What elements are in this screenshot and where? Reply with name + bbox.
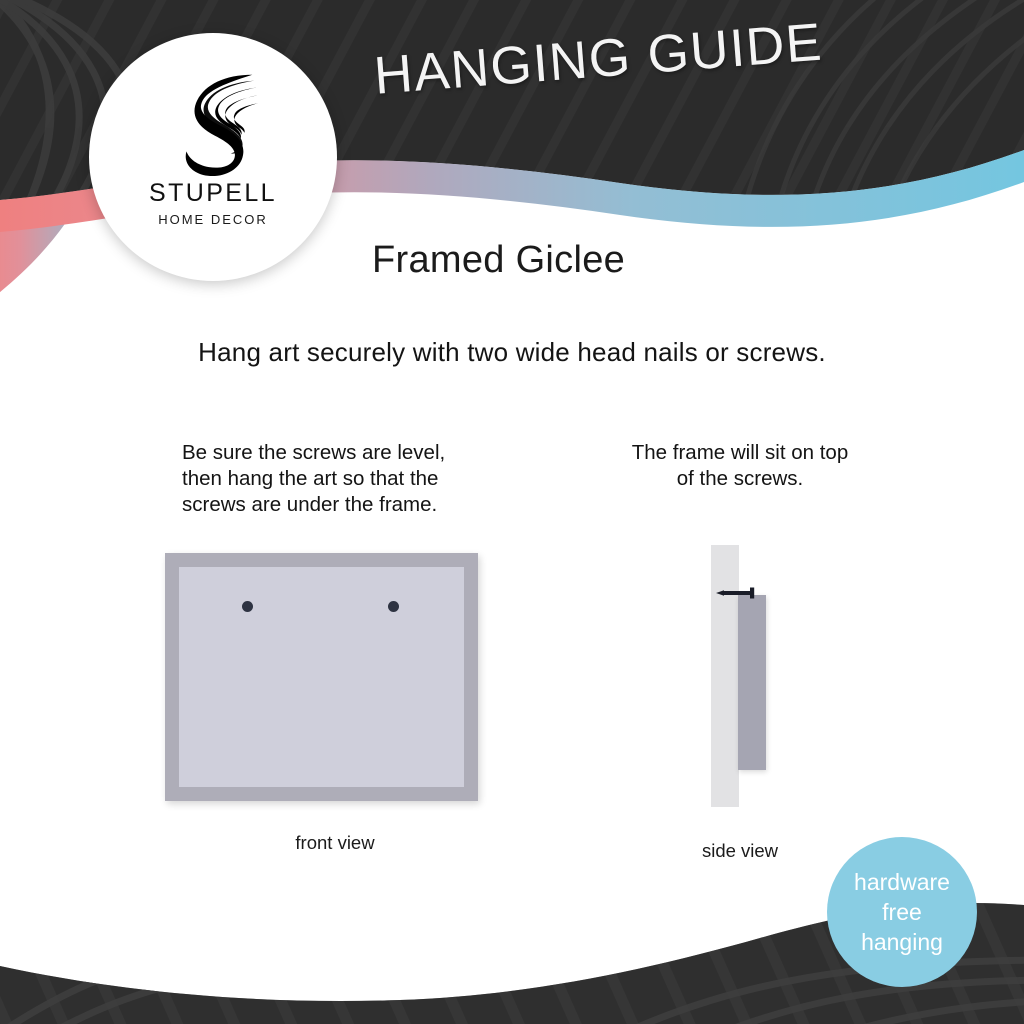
- screw-dot-right-icon: [388, 601, 399, 612]
- front-view-caption-line-3: screws are under the frame.: [182, 492, 530, 518]
- side-view-caption-line-1: The frame will sit on top: [590, 440, 890, 466]
- front-view-label: front view: [140, 832, 530, 854]
- page-title: HANGING GUIDE: [372, 12, 825, 107]
- front-view-caption-line-2: then hang the art so that the: [182, 466, 530, 492]
- framed-art-side-illustration: [711, 545, 771, 807]
- main-instruction-text: Hang art securely with two wide head nai…: [0, 337, 1024, 368]
- logo-subwordmark: HOME DECOR: [158, 213, 268, 226]
- front-view-caption-line-1: Be sure the screws are level,: [182, 440, 530, 466]
- front-view-mat: [179, 567, 464, 787]
- wall-strip: [711, 545, 739, 807]
- front-view-caption-top: Be sure the screws are level, then hang …: [140, 440, 530, 518]
- side-view-diagram: The frame will sit on top of the screws.…: [590, 440, 890, 492]
- stupell-logo-badge: STUPELL HOME DECOR: [89, 33, 337, 281]
- framed-art-front-illustration: [165, 553, 478, 801]
- badge-line-3: hanging: [861, 927, 943, 957]
- diagram-row: Be sure the screws are level, then hang …: [0, 440, 1024, 880]
- nail-side-icon: [716, 587, 760, 599]
- side-view-label: side view: [590, 840, 890, 862]
- front-view-diagram: Be sure the screws are level, then hang …: [140, 440, 530, 518]
- stupell-swoosh-icon: [154, 59, 272, 177]
- frame-strip: [738, 595, 766, 770]
- hanging-guide-page: STUPELL HOME DECOR HANGING GUIDE Framed …: [0, 0, 1024, 1024]
- badge-line-1: hardware: [854, 867, 950, 897]
- hardware-free-hanging-badge: hardware free hanging: [827, 837, 977, 987]
- screw-dot-left-icon: [242, 601, 253, 612]
- product-type-label: Framed Giclee: [372, 239, 625, 282]
- logo-wordmark: STUPELL: [149, 181, 277, 206]
- side-view-caption-line-2: of the screws.: [590, 466, 890, 492]
- side-view-caption-top: The frame will sit on top of the screws.: [590, 440, 890, 492]
- badge-line-2: free: [882, 897, 922, 927]
